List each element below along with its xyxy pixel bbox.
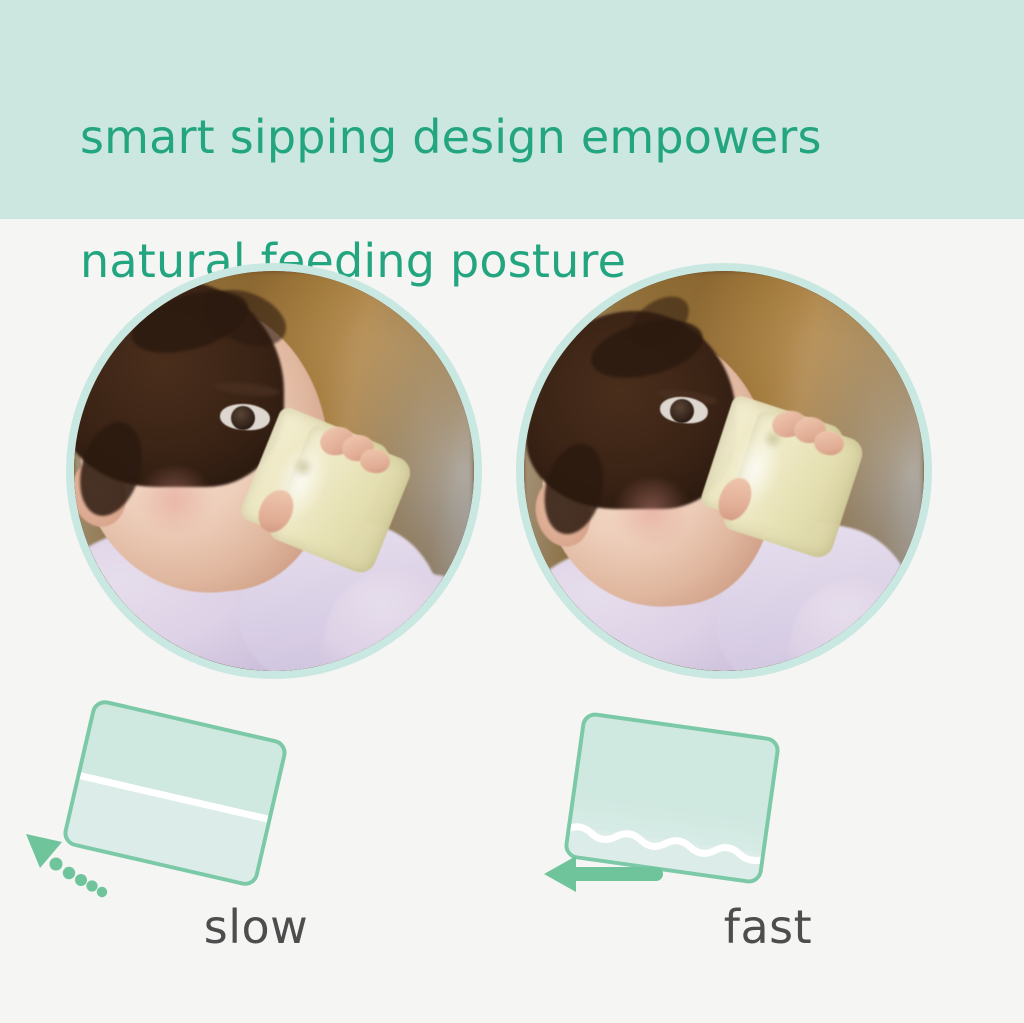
baby-eye-iris — [670, 399, 694, 423]
fast-flow-arrow-icon — [538, 850, 668, 898]
diagram-slow: slow — [0, 700, 512, 1023]
photo-circle-slow — [66, 263, 482, 679]
slow-flow-arrow-icon — [20, 828, 116, 900]
speed-label-fast: fast — [512, 900, 1024, 954]
baby-cheek — [608, 479, 696, 545]
photo-image-fast — [524, 271, 924, 671]
diagram-fast: fast — [512, 700, 1024, 1023]
photo-circle-fast — [516, 263, 932, 679]
photo-image-slow — [74, 271, 474, 671]
flow-diagram-row: slow fast — [0, 700, 1024, 1023]
bottle-condensation-spot — [292, 457, 314, 477]
baby-cheek — [132, 467, 218, 533]
baby-eye-iris — [231, 406, 255, 430]
speed-label-slow: slow — [0, 900, 512, 954]
infographic-page: smart sipping design empowers natural fe… — [0, 0, 1024, 1023]
